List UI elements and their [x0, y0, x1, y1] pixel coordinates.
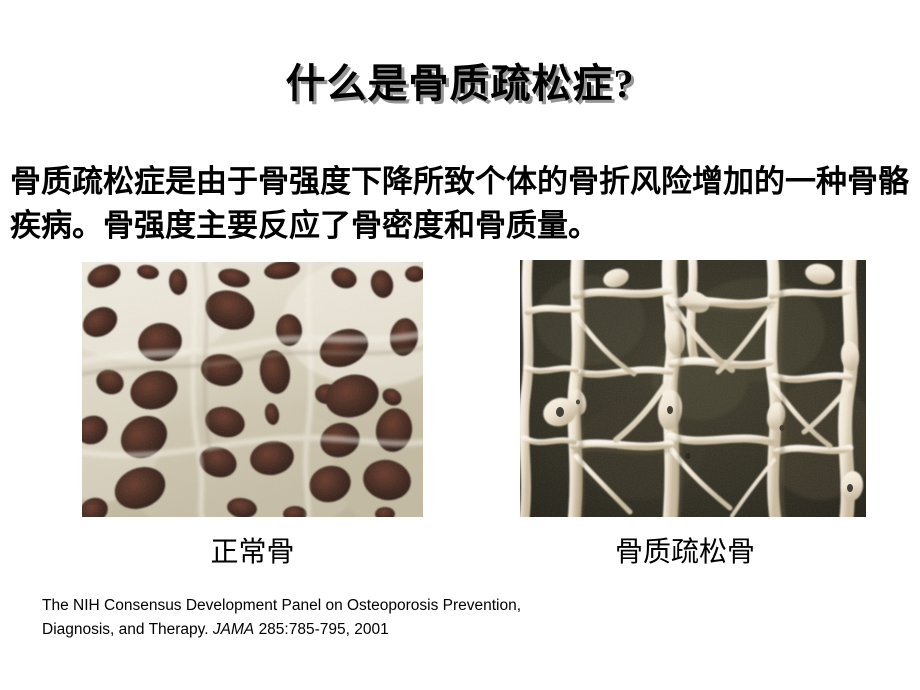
osteoporotic-bone-image [520, 260, 866, 517]
definition-paragraph: 骨质疏松症是由于骨强度下降所致个体的骨折风险增加的一种骨骼疾病。骨强度主要反应了… [10, 160, 918, 248]
osteoporotic-bone-svg [520, 260, 866, 517]
citation-title-part: Diagnosis, and Therapy. [42, 621, 209, 638]
normal-bone-svg [82, 262, 423, 517]
citation: The NIH Consensus Development Panel on O… [42, 594, 682, 642]
citation-line-1: The NIH Consensus Development Panel on O… [42, 594, 682, 618]
page-title: 什么是骨质疏松症? [0, 58, 920, 110]
citation-volume-pages: 285:785-795, 2001 [259, 621, 389, 638]
normal-bone-caption: 正常骨 [0, 536, 505, 570]
citation-line-2: Diagnosis, and Therapy. JAMA 285:785-795… [42, 618, 682, 642]
normal-bone-image [82, 262, 423, 517]
citation-journal-name: JAMA [213, 621, 254, 638]
osteoporotic-bone-caption: 骨质疏松骨 [490, 536, 880, 570]
